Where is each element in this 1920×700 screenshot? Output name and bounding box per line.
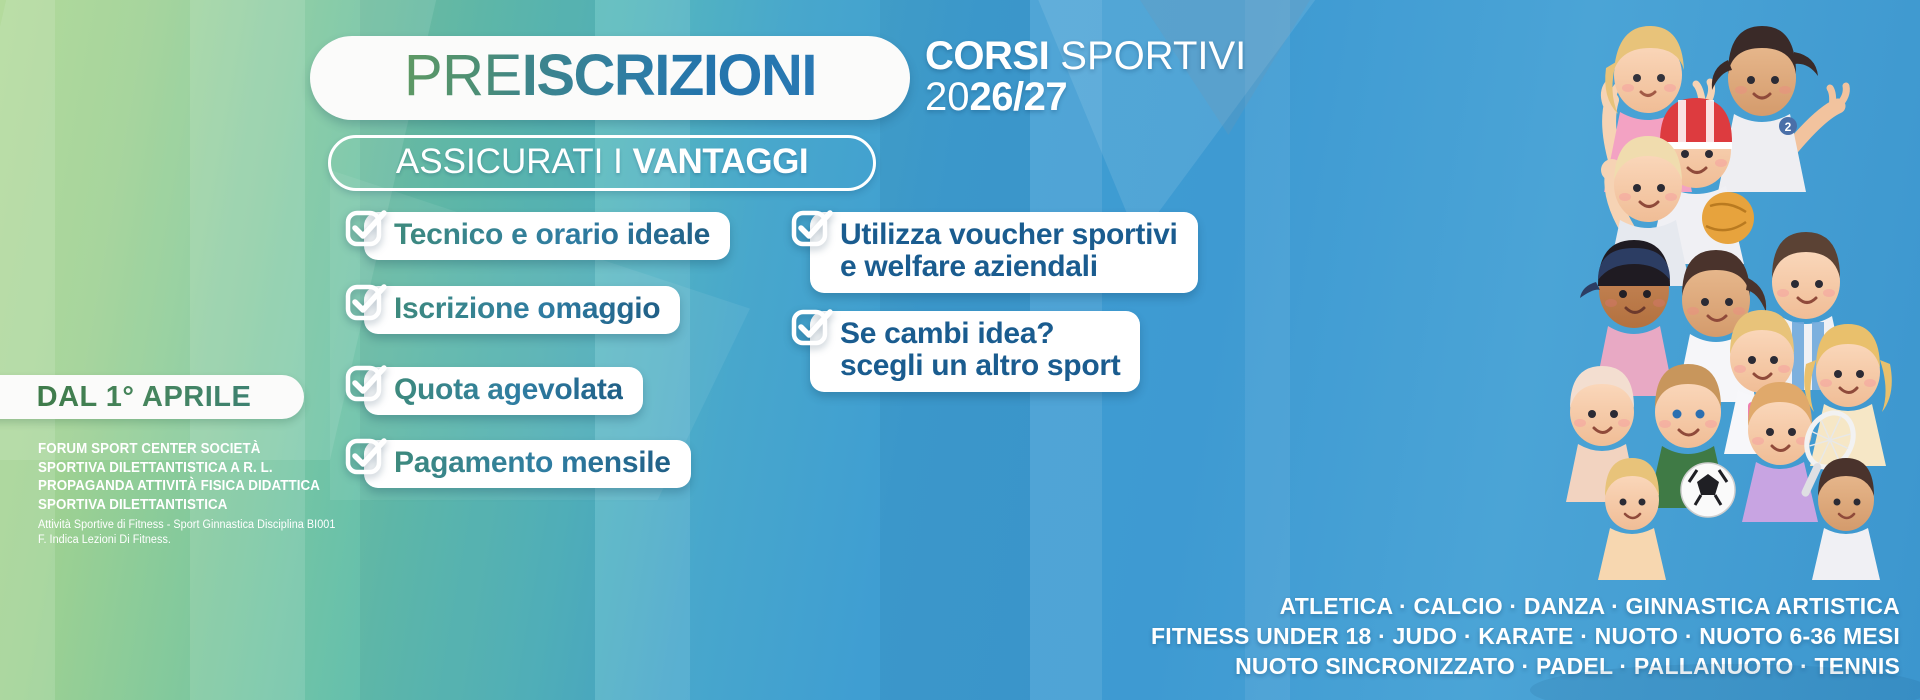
kid-figure bbox=[1676, 250, 1766, 402]
svg-text:2: 2 bbox=[1785, 120, 1792, 134]
checkbox-checked-icon bbox=[344, 361, 388, 405]
benefit-label: Quota agevolata bbox=[394, 374, 623, 406]
kid-figure bbox=[1812, 458, 1880, 580]
promo-banner: PREISCRIZIONI CORSI SPORTIVI 2026/27 ASS… bbox=[0, 0, 1920, 700]
benefit-item[interactable]: Se cambi idea? scegli un altro sport bbox=[790, 305, 1140, 392]
kid-figure bbox=[1648, 98, 1754, 264]
kid-figure bbox=[1724, 310, 1800, 454]
season-sportivi: SPORTIVI bbox=[1049, 34, 1246, 78]
benefit-pill: Quota agevolata bbox=[364, 367, 643, 415]
benefit-item[interactable]: Utilizza voucher sportivi e welfare azie… bbox=[790, 206, 1198, 293]
subheadline-pill: ASSICURATI I VANTAGGI bbox=[328, 135, 876, 191]
season-line-2: 2026/27 bbox=[925, 77, 1246, 118]
start-date-pill: DAL 1° APRILE bbox=[0, 375, 304, 419]
checkbox-checked-icon bbox=[344, 280, 388, 324]
legal-company: FORUM SPORT CENTER SOCIETÀ SPORTIVA DILE… bbox=[38, 440, 351, 514]
benefit-item[interactable]: Tecnico e orario ideale bbox=[344, 206, 730, 260]
sports-line: NUOTO SINCRONIZZATO · PADEL · PALLANUOTO… bbox=[1151, 652, 1900, 682]
benefit-label: Utilizza voucher sportivi e welfare azie… bbox=[840, 219, 1178, 284]
benefit-item[interactable]: Pagamento mensile bbox=[344, 434, 691, 488]
legal-text: FORUM SPORT CENTER SOCIETÀ SPORTIVA DILE… bbox=[38, 440, 378, 549]
benefit-pill: Utilizza voucher sportivi e welfare azie… bbox=[810, 212, 1198, 293]
benefit-label: Tecnico e orario ideale bbox=[394, 219, 710, 251]
checkbox-checked-icon bbox=[790, 305, 834, 349]
kid-figure bbox=[1764, 232, 1848, 390]
season-corsi: CORSI bbox=[925, 34, 1049, 78]
subheadline: ASSICURATI I VANTAGGI bbox=[396, 142, 808, 182]
kid-figure bbox=[1601, 136, 1690, 286]
benefit-label: Pagamento mensile bbox=[394, 447, 671, 479]
kid-figure bbox=[1598, 458, 1666, 580]
season-year-prefix: 20 bbox=[925, 75, 970, 119]
sports-line: ATLETICA · CALCIO · DANZA · GINNASTICA A… bbox=[1151, 592, 1900, 622]
benefit-label: Iscrizione omaggio bbox=[394, 293, 660, 325]
page-title: PREISCRIZIONI bbox=[404, 47, 816, 105]
benefit-pill: Se cambi idea? scegli un altro sport bbox=[810, 311, 1140, 392]
season-year-suffix: 26/27 bbox=[970, 75, 1068, 119]
season-label: CORSI SPORTIVI 2026/27 bbox=[925, 36, 1246, 118]
kid-figure bbox=[1604, 26, 1712, 192]
checkbox-checked-icon bbox=[790, 206, 834, 250]
kid-figure bbox=[1580, 240, 1674, 396]
legal-detail: Attività Sportive di Fitness - Sport Gin… bbox=[38, 518, 358, 548]
headline-main: ISCRIZIONI bbox=[522, 43, 816, 108]
season-line-1: CORSI SPORTIVI bbox=[925, 36, 1246, 77]
benefit-item[interactable]: Quota agevolata bbox=[344, 361, 643, 415]
benefit-pill: Tecnico e orario ideale bbox=[364, 212, 730, 260]
headline-pill: PREISCRIZIONI bbox=[310, 36, 910, 120]
start-date-label: DAL 1° APRILE bbox=[37, 381, 252, 414]
benefit-label: Se cambi idea? scegli un altro sport bbox=[840, 318, 1120, 383]
benefit-item[interactable]: Iscrizione omaggio bbox=[344, 280, 680, 334]
benefit-pill: Iscrizione omaggio bbox=[364, 286, 680, 334]
checkbox-checked-icon bbox=[344, 434, 388, 478]
kid-figure bbox=[1742, 382, 1862, 522]
subheadline-bold: VANTAGGI bbox=[633, 142, 809, 181]
checkbox-checked-icon bbox=[344, 206, 388, 250]
kid-figure: 2 bbox=[1712, 26, 1847, 192]
sports-list: ATLETICA · CALCIO · DANZA · GINNASTICA A… bbox=[1151, 592, 1900, 682]
benefit-pill: Pagamento mensile bbox=[364, 440, 691, 488]
kid-figure bbox=[1648, 364, 1735, 517]
kid-figure bbox=[1566, 366, 1638, 502]
sports-line: FITNESS UNDER 18 · JUDO · KARATE · NUOTO… bbox=[1151, 622, 1900, 652]
headline-prefix: PRE bbox=[404, 43, 522, 108]
kid-figure bbox=[1804, 324, 1892, 466]
subheadline-light: ASSICURATI I bbox=[396, 142, 633, 181]
